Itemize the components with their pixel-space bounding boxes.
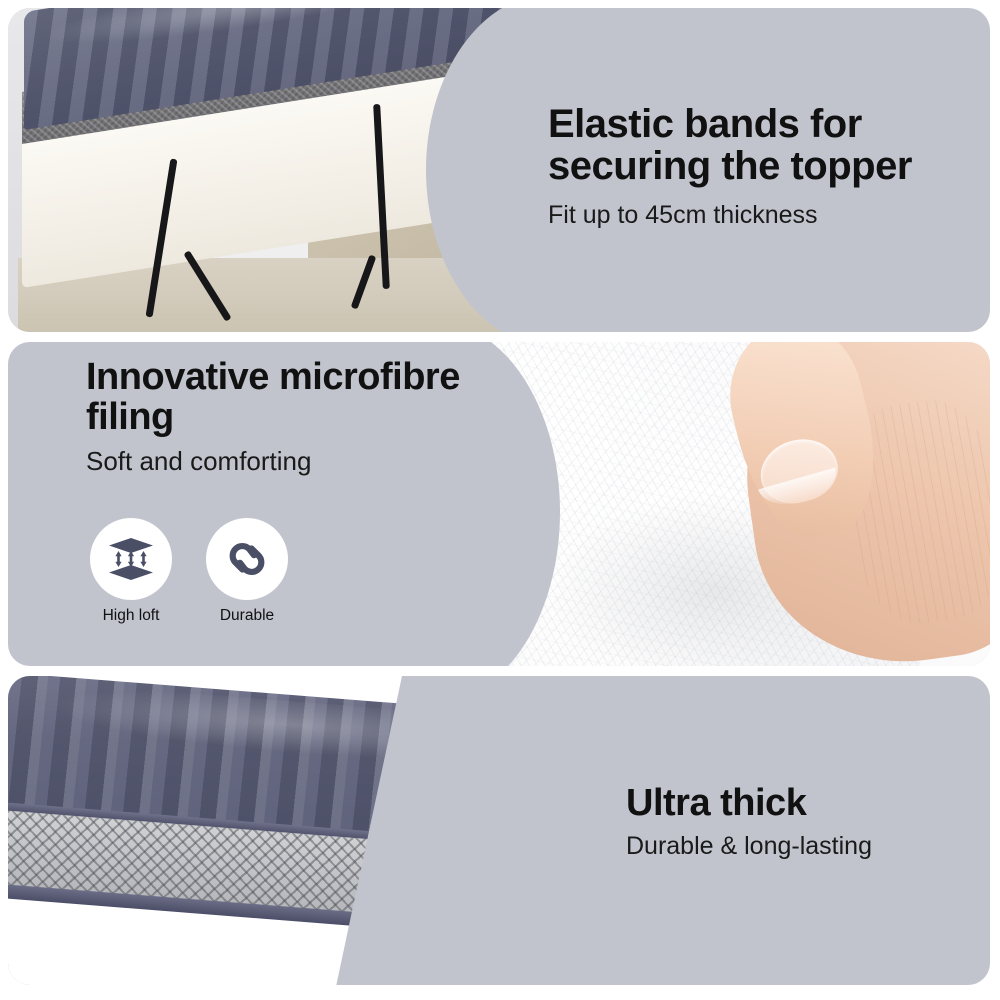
elastic-subline: Fit up to 45cm thickness [548,201,978,230]
feature-panel-ultra-thick: Ultra thick Durable & long-lasting [8,676,990,985]
badge-label-high-loft: High loft [90,607,172,625]
badge-label-durable: Durable [206,607,288,625]
microfibre-headline: Innovative microfibre filing [86,358,486,437]
feature-badge-group: High loft Durable [90,518,288,625]
microfibre-subline: Soft and comforting [86,447,486,477]
feature-badge-high-loft: High loft [90,518,172,625]
elastic-text-block: Elastic bands for securing the topper Fi… [548,104,978,230]
feature-panel-microfibre-filling: Innovative microfibre filing Soft and co… [8,342,990,666]
elastic-headline: Elastic bands for securing the topper [548,104,978,187]
badge-circle [90,518,172,600]
high-loft-icon [106,534,156,584]
feature-panel-elastic-bands: Elastic bands for securing the topper Fi… [8,8,990,332]
microfibre-text-block: Innovative microfibre filing Soft and co… [86,358,486,477]
feature-badge-durable: Durable [206,518,288,625]
ultrathick-text-block: Ultra thick Durable & long-lasting [626,784,986,860]
ultrathick-subline: Durable & long-lasting [626,832,986,861]
photo-mattress-topper-with-elastic-straps [8,8,568,332]
product-feature-infographic: Elastic bands for securing the topper Fi… [0,0,1000,1000]
chain-link-icon [222,534,272,584]
photo-thick-quilted-topper-edge-with-mesh-gusset [8,676,608,985]
badge-circle [206,518,288,600]
photo-hand-pinching-white-microfibre-fill [430,342,990,666]
ultrathick-headline: Ultra thick [626,784,986,824]
